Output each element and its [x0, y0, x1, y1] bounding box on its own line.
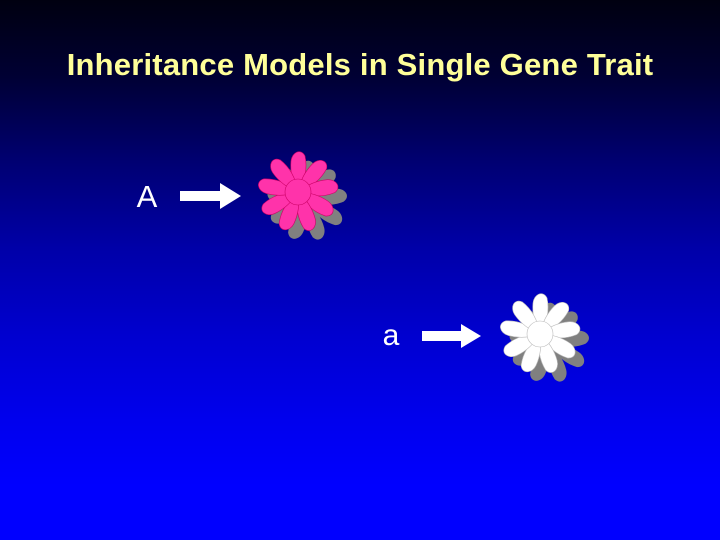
right-arrow-icon — [422, 322, 482, 350]
slide-canvas: Inheritance Models in Single Gene Trait … — [0, 0, 720, 540]
allele-row-recessive: a — [378, 288, 592, 384]
allele-row-dominant: A — [132, 150, 350, 242]
allele-label-dominant: A — [132, 181, 162, 212]
page-title: Inheritance Models in Single Gene Trait — [0, 46, 720, 84]
flower-icon-recessive — [496, 290, 592, 384]
right-arrow-icon — [180, 181, 242, 211]
flower-icon-dominant — [254, 148, 350, 242]
allele-label-recessive: a — [378, 321, 404, 351]
